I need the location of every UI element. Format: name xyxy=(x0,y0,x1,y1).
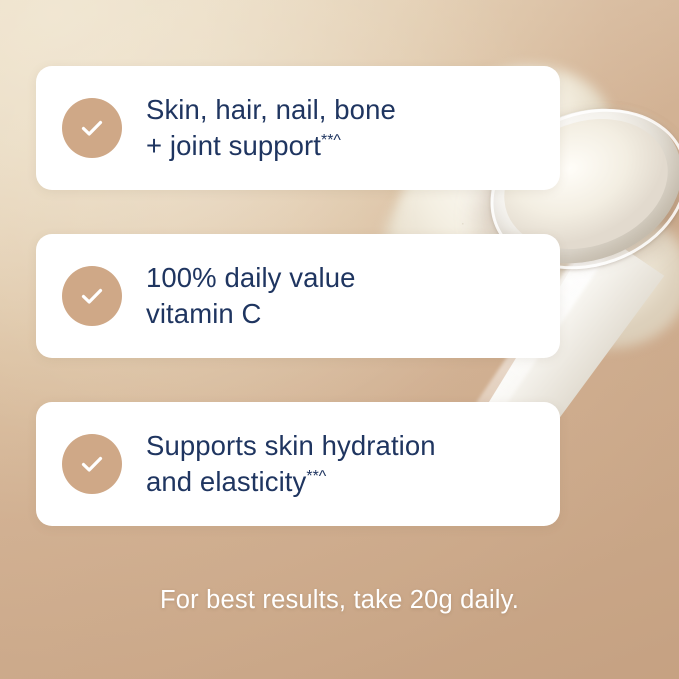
benefit-line-2-wrap: and elasticity**^ xyxy=(146,464,436,500)
benefit-footnote-marker: **^ xyxy=(306,468,326,485)
benefit-line-2: vitamin C xyxy=(146,298,262,329)
check-icon xyxy=(62,266,122,326)
benefit-line-2: and elasticity xyxy=(146,466,306,497)
check-icon xyxy=(62,98,122,158)
benefit-card: Skin, hair, nail, bone + joint support**… xyxy=(36,66,560,190)
benefit-line-1: Skin, hair, nail, bone xyxy=(146,92,396,128)
benefit-line-2-wrap: + joint support**^ xyxy=(146,128,396,164)
benefit-line-1: 100% daily value xyxy=(146,260,356,296)
benefit-line-2: + joint support xyxy=(146,130,321,161)
usage-instruction: For best results, take 20g daily. xyxy=(0,586,679,615)
product-benefits-graphic: Skin, hair, nail, bone + joint support**… xyxy=(0,0,679,679)
benefit-card: Supports skin hydration and elasticity**… xyxy=(36,402,560,526)
benefit-line-1: Supports skin hydration xyxy=(146,428,436,464)
benefit-card-list: Skin, hair, nail, bone + joint support**… xyxy=(36,66,560,526)
benefit-text: Supports skin hydration and elasticity**… xyxy=(146,428,436,501)
benefit-footnote-marker: **^ xyxy=(321,132,341,149)
benefit-text: Skin, hair, nail, bone + joint support**… xyxy=(146,92,396,165)
benefit-text: 100% daily value vitamin C xyxy=(146,260,356,333)
check-icon xyxy=(62,434,122,494)
benefit-card: 100% daily value vitamin C xyxy=(36,234,560,358)
benefit-line-2-wrap: vitamin C xyxy=(146,296,356,332)
